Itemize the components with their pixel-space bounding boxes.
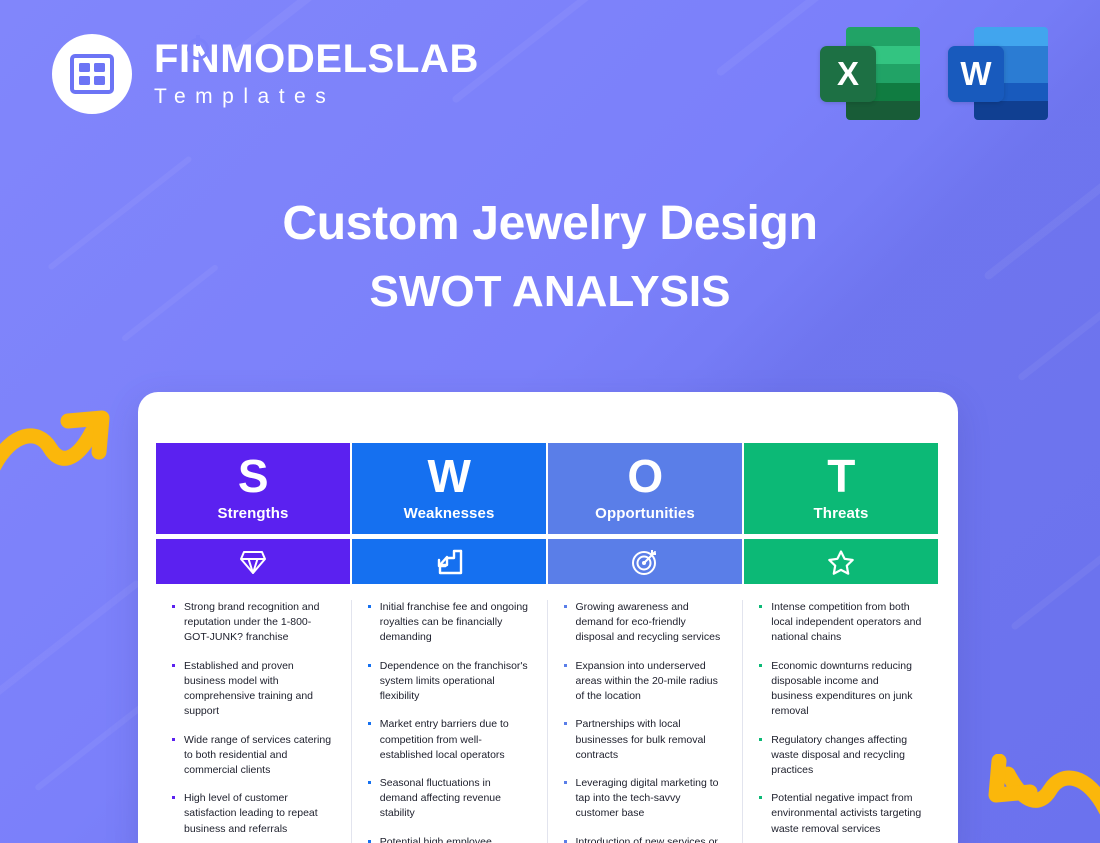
swot-list: Growing awareness and demand for eco-fri… [562,600,727,843]
title-block: Custom Jewelry Design SWOT ANALYSIS [0,196,1100,317]
list-item: Potential negative impact from environme… [757,791,922,837]
brand-subtitle: Templates [154,86,479,107]
list-item: Market entry barriers due to competition… [366,717,531,763]
list-item: Partnerships with local businesses for b… [562,717,727,763]
brand-logo: FINMODELSLAB Templates [52,34,479,114]
swot-list: Intense competition from both local inde… [757,600,922,843]
office-format-icons: X W [820,27,1048,120]
list-item: Intense competition from both local inde… [757,600,922,646]
list-item: Wide range of services catering to both … [170,733,335,779]
excel-letter: X [820,46,876,102]
list-item: Expansion into underserved areas within … [562,659,727,705]
list-item: Growing awareness and demand for eco-fri… [562,600,727,646]
squiggle-arrow-up-right-icon [0,404,124,489]
swot-table: S Strengths W Weaknesses O Opportunities… [156,443,938,843]
swot-header-row: S Strengths W Weaknesses O Opportunities… [156,443,938,534]
list-item: Introduction of new services or products… [562,835,727,843]
list-item: High level of customer satisfaction lead… [170,791,335,837]
page-subtitle: SWOT ANALYSIS [0,267,1100,317]
swot-label: Weaknesses [404,505,495,522]
list-item: Strong brand recognition and reputation … [170,600,335,646]
list-item: Initial franchise fee and ongoing royalt… [366,600,531,646]
swot-list: Strong brand recognition and reputation … [170,600,335,843]
swot-icon-row [156,539,938,584]
list-item: Seasonal fluctuations in demand affectin… [366,776,531,822]
swot-header-strengths[interactable]: S Strengths [156,443,350,534]
list-item: Potential high employee turnover in the … [366,835,531,843]
swot-header-threats[interactable]: T Threats [744,443,938,534]
word-letter: W [948,46,1004,102]
swot-letter: O [627,455,662,498]
stairs-down-arrow-icon [352,539,546,584]
swot-letter: S [238,455,268,498]
brand-name: FINMODELSLAB [154,39,479,79]
swot-label: Opportunities [595,505,695,522]
swot-column-opportunities: Growing awareness and demand for eco-fri… [548,600,744,843]
list-item: Regulatory changes affecting waste dispo… [757,733,922,779]
squiggle-arrow-down-left-icon [978,754,1100,839]
swot-list: Initial franchise fee and ongoing royalt… [366,600,531,843]
swot-label: Strengths [218,505,289,522]
swot-letter: W [428,455,471,498]
swot-letter: T [827,455,855,498]
page-title: Custom Jewelry Design [0,196,1100,253]
star-outline-icon [744,539,938,584]
swot-column-threats: Intense competition from both local inde… [743,600,938,843]
diamond-icon [156,539,350,584]
list-item: Leveraging digital marketing to tap into… [562,776,727,822]
page-header: FINMODELSLAB Templates X W [0,0,1100,150]
swot-column-strengths: Strong brand recognition and reputation … [156,600,352,843]
swot-label: Threats [814,505,869,522]
grid-squares-icon [52,34,132,114]
target-dartboard-icon [548,539,742,584]
excel-icon: X [820,27,920,120]
swot-header-weaknesses[interactable]: W Weaknesses [352,443,546,534]
swot-body-row: Strong brand recognition and reputation … [156,600,938,843]
swot-header-opportunities[interactable]: O Opportunities [548,443,742,534]
list-item: Economic downturns reducing disposable i… [757,659,922,720]
swot-card: S Strengths W Weaknesses O Opportunities… [138,392,958,843]
swot-column-weaknesses: Initial franchise fee and ongoing royalt… [352,600,548,843]
list-item: Established and proven business model wi… [170,659,335,720]
list-item: Dependence on the franchisor's system li… [366,659,531,705]
brand-text: FINMODELSLAB Templates [154,39,479,109]
word-icon: W [948,27,1048,120]
